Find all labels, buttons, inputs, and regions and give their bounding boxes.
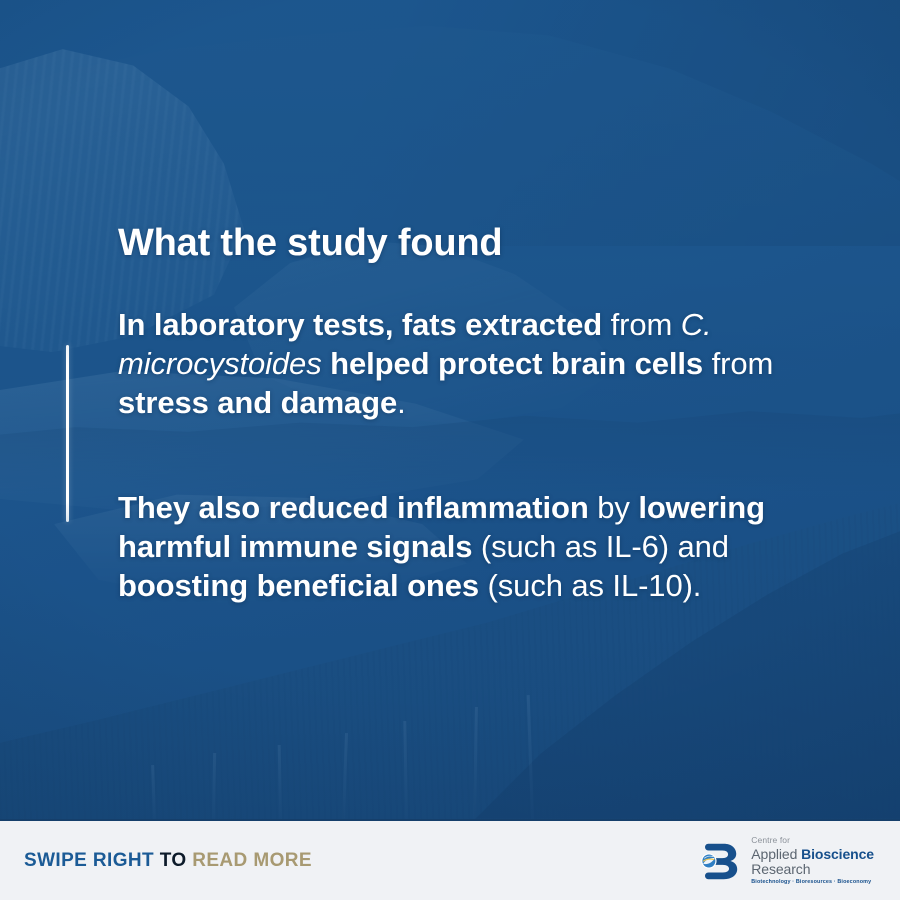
swipe-cta-part-2: TO (160, 850, 187, 871)
text-run-2: from (611, 307, 681, 342)
text-run-2: by (589, 490, 639, 525)
text-run-5: helped protect brain cells (330, 346, 703, 381)
body-paragraph-2: They also reduced inflammation by loweri… (118, 488, 863, 605)
text-run-6: from (703, 346, 773, 381)
social-post-card: What the study found In laboratory tests… (0, 0, 900, 900)
text-run-5: boosting beneficial ones (118, 568, 479, 603)
logo-line-3: Research (751, 862, 874, 876)
logo-wordmark: Centre for Applied Bioscience Research B… (751, 836, 874, 885)
text-run-8: . (397, 385, 406, 420)
accent-rule (66, 345, 69, 522)
logo-line-1: Centre for (751, 836, 874, 845)
organisation-logo: Centre for Applied Bioscience Research B… (694, 836, 884, 885)
swipe-cta-part-3: READ MORE (192, 850, 312, 871)
swipe-cta[interactable]: SWIPE RIGHT TO READ MORE (24, 850, 312, 872)
page-title: What the study found (118, 222, 502, 265)
text-run-1: In laboratory tests, fats extracted (118, 307, 611, 342)
body-paragraph-1: In laboratory tests, fats extracted from… (118, 305, 818, 422)
text-run-7: stress and damage (118, 385, 397, 420)
text-run-4 (322, 346, 331, 381)
swipe-cta-part-1: SWIPE RIGHT (24, 850, 154, 871)
logo-line-2: Applied Bioscience (751, 847, 874, 861)
logo-line-2-bold: Bioscience (801, 846, 874, 862)
text-run-1: They also reduced inflammation (118, 490, 589, 525)
cabr-monogram-icon (694, 837, 742, 885)
text-run-4: (such as IL-6) and (472, 529, 729, 564)
logo-line-2-regular: Applied (751, 846, 801, 862)
logo-tagline: Biotechnology · Bioresources · Bioeconom… (751, 880, 874, 885)
text-run-6: (such as IL-10). (479, 568, 701, 603)
footer-bar: SWIPE RIGHT TO READ MORE Centre for Appl… (0, 819, 900, 900)
